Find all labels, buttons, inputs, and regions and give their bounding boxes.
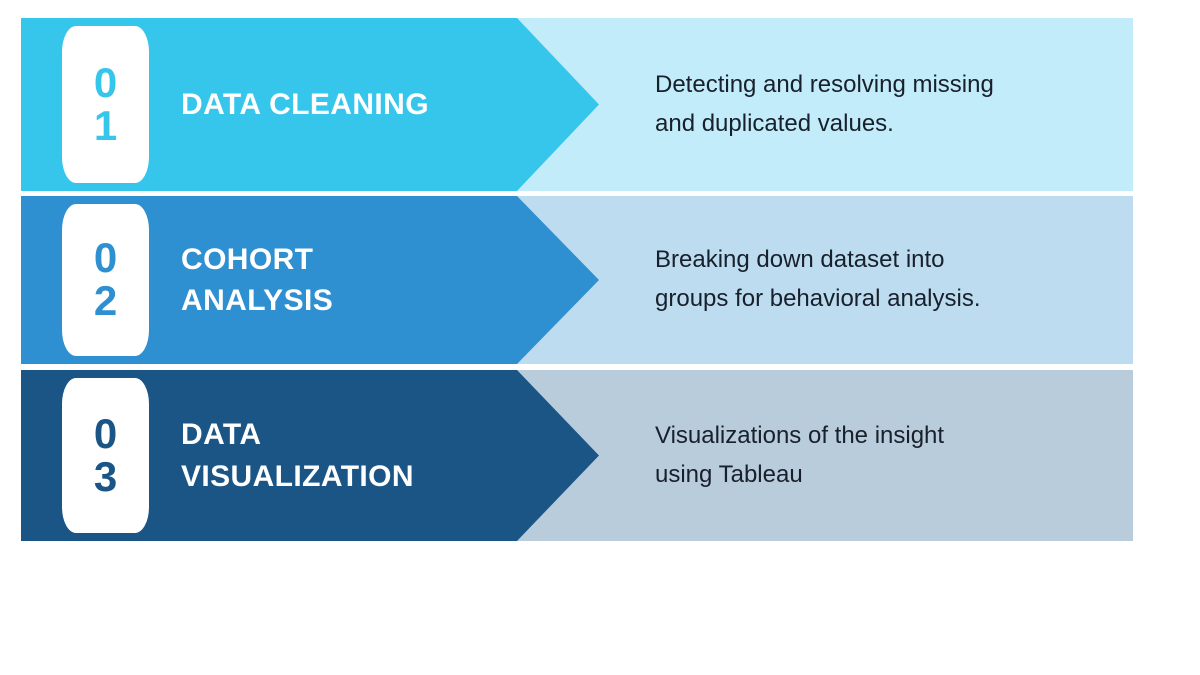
step-1-number-badge: 0 1: [62, 26, 149, 183]
step-2-number-digit-2: 2: [94, 280, 117, 323]
step-1-number-digit-2: 1: [94, 105, 117, 148]
step-1-number-digit-1: 0: [94, 62, 117, 105]
step-3-number-digit-2: 3: [94, 456, 117, 499]
step-2-description: Breaking down dataset into groups for be…: [655, 196, 1107, 364]
step-row-2: 0 2 COHORT ANALYSIS Breaking down datase…: [21, 196, 1133, 364]
step-1-title: DATA CLEANING: [181, 18, 511, 191]
step-3-number-digit-1: 0: [94, 413, 117, 456]
infographic-canvas: 0 1 DATA CLEANING Detecting and resolvin…: [0, 0, 1200, 675]
step-1-description: Detecting and resolving missing and dupl…: [655, 18, 1107, 191]
step-3-title: DATA VISUALIZATION: [181, 370, 511, 541]
step-row-3: 0 3 DATA VISUALIZATION Visualizations of…: [21, 370, 1133, 541]
step-3-number-badge: 0 3: [62, 378, 149, 533]
step-3-description: Visualizations of the insight using Tabl…: [655, 370, 1107, 541]
step-2-number-badge: 0 2: [62, 204, 149, 356]
step-2-number-digit-1: 0: [94, 237, 117, 280]
step-2-title: COHORT ANALYSIS: [181, 196, 511, 364]
step-row-1: 0 1 DATA CLEANING Detecting and resolvin…: [21, 18, 1133, 191]
